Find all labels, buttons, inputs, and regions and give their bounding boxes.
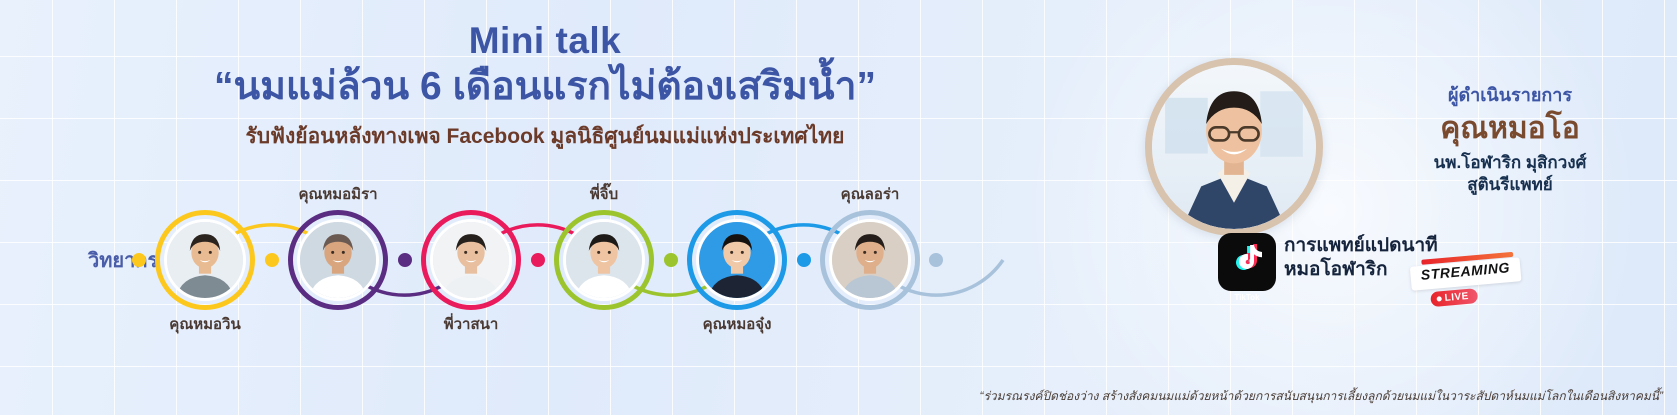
speaker-name: คุณหมอมิรา	[298, 182, 377, 206]
speaker-portrait-illustration	[167, 222, 243, 298]
speaker-connector-dot	[664, 253, 678, 267]
speaker-name: คุณหมอวิน	[169, 312, 240, 336]
tiktok-label: TikTok	[1218, 293, 1276, 302]
brand-block: TikTok การแพทย์แปดนาที หมอโอฬาริก STREAM…	[1218, 230, 1677, 312]
speaker-name: คุณลอร่า	[841, 182, 900, 206]
speaker-portrait-illustration	[300, 222, 376, 298]
speaker-avatar	[563, 219, 645, 301]
footer-note: “ร่วมรณรงค์ปิดช่องว่าง สร้างสังคมนมแม่ด้…	[0, 387, 1663, 406]
speaker-avatar	[696, 219, 778, 301]
speaker-portrait-illustration	[699, 222, 775, 298]
live-label: LIVE	[1444, 291, 1469, 304]
headline-title: Mini talk	[0, 22, 1090, 61]
speaker-connector-dot	[531, 253, 545, 267]
tiktok-channel-line1: การแพทย์แปดนาที	[1284, 234, 1438, 258]
speaker-portrait-illustration	[832, 222, 908, 298]
speaker-name: คุณหมอจุ๋ง	[703, 312, 772, 336]
host-text-block: ผู้ดำเนินรายการ คุณหมอโอ นพ.โอฬาริก มุสิ…	[1345, 84, 1675, 197]
host-fullname: นพ.โอฬาริก มุสิกวงศ์	[1345, 152, 1675, 175]
speaker-portrait-illustration	[433, 222, 509, 298]
speaker-name: พี่จิ๊บ	[590, 182, 618, 206]
speaker-connector-dot	[132, 253, 146, 267]
headline-block: Mini talk “นมแม่ล้วน 6 เดือนแรกไม่ต้องเส…	[0, 0, 1090, 149]
speaker-name: พี่วาสนา	[444, 312, 499, 336]
speaker-node[interactable]: คุณหมอจุ๋ง	[687, 210, 787, 310]
host-specialty: สูตินรีแพทย์	[1345, 174, 1675, 197]
live-dot-icon	[1437, 296, 1442, 301]
speaker-node[interactable]: คุณหมอวิน	[155, 210, 255, 310]
speaker-connector-dot	[797, 253, 811, 267]
speaker-node[interactable]: คุณหมอมิรา	[288, 210, 388, 310]
tiktok-note-glyph	[1218, 233, 1276, 291]
speaker-node[interactable]: คุณลอร่า	[820, 210, 920, 310]
speaker-avatar	[297, 219, 379, 301]
speaker-rail: วิทยากร คุณหมอวินคุณหมอมิราพี่วาสนาพี่จิ…	[0, 178, 1090, 353]
mini-talk-banner: Mini talk “นมแม่ล้วน 6 เดือนแรกไม่ต้องเส…	[0, 0, 1677, 415]
streaming-badge: STREAMING LIVE	[1409, 253, 1522, 302]
speaker-connector-dot	[265, 253, 279, 267]
host-nickname: คุณหมอโอ	[1345, 109, 1675, 148]
speaker-node[interactable]: พี่จิ๊บ	[554, 210, 654, 310]
speaker-avatar	[164, 219, 246, 301]
headline-subtitle: รับฟังย้อนหลังทางเพจ Facebook มูลนิธิศูน…	[0, 124, 1090, 149]
host-avatar	[1145, 58, 1323, 236]
host-portrait-illustration	[1152, 65, 1316, 229]
host-role: ผู้ดำเนินรายการ	[1345, 84, 1675, 107]
speaker-avatar	[829, 219, 911, 301]
speaker-avatar	[430, 219, 512, 301]
live-badge: LIVE	[1430, 288, 1478, 307]
speaker-connector-dot	[929, 253, 943, 267]
speaker-portrait-illustration	[566, 222, 642, 298]
tiktok-icon[interactable]: TikTok	[1218, 233, 1276, 291]
headline-quote: “นมแม่ล้วน 6 เดือนแรกไม่ต้องเสริมน้ำ”	[0, 65, 1090, 110]
speaker-connector-dot	[398, 253, 412, 267]
speaker-node[interactable]: พี่วาสนา	[421, 210, 521, 310]
